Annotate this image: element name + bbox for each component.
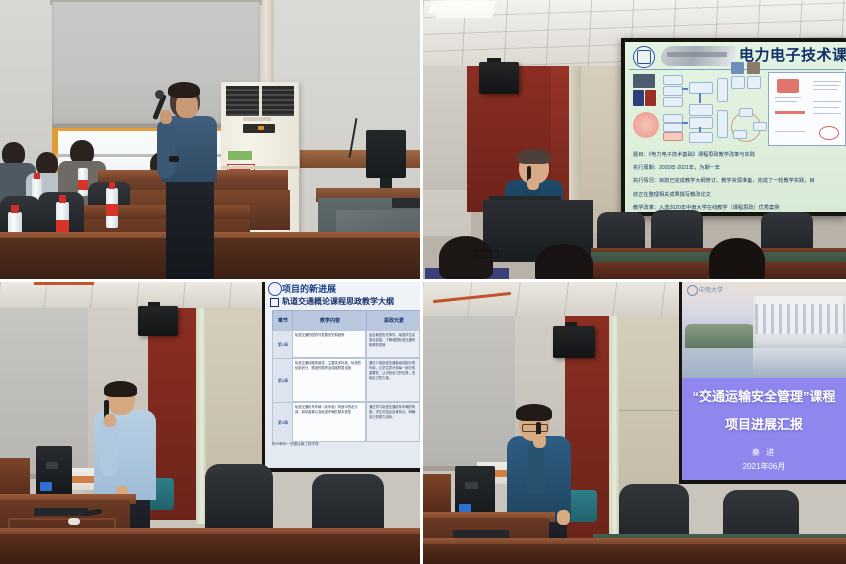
slide-date: 2021年06月 (682, 460, 846, 474)
keyboard (34, 508, 88, 516)
keyboard (453, 530, 509, 538)
air-conditioner-seam (221, 166, 299, 169)
flow-arrow (682, 88, 688, 90)
table-cell: 轨道交通线路的组成、主要技术标准、轨道的轨距划分、隧道的限界及线路附属设施 (292, 358, 366, 402)
certificate-line (775, 97, 801, 98)
water-bottle-cap (11, 205, 19, 213)
table-cell: 轨道交通的国内外发展历史和趋势 (292, 330, 366, 358)
roller-blind (423, 306, 515, 466)
photo-collage: 电力电子技术课程思政 (0, 0, 846, 564)
flow-node (663, 75, 683, 85)
table-cell: 通过学习轨道交通机车车辆的构造，学生可结合自身特点，明确自己的努力目标。 (366, 402, 420, 442)
certificate-line (813, 81, 841, 82)
slide-footer: 执行单位：交通运输工程学院 (272, 442, 402, 450)
slide-body-text: 题目：《电力电子技术基础》课程思政教学改革与实践 执行周期：2020年-2021… (629, 148, 844, 210)
monitor-stand (380, 178, 392, 188)
slide-subheading: 轨道交通概论课程思政教学大纲 (270, 296, 420, 308)
monitor-logo (46, 462, 58, 469)
keyboard (392, 198, 420, 208)
certificate-line (813, 85, 839, 86)
certificate-line (813, 107, 839, 108)
flow-arrow (699, 93, 701, 103)
water-bottle-cap (59, 195, 66, 203)
slide-table: 章节 教学内容 思政元素 第1章 轨道交通的国内外发展历史和趋势 结合典型历史事… (272, 310, 420, 440)
wall-panel-seam (619, 410, 681, 411)
slide-presenter-name: 秦 进 (682, 446, 846, 460)
slide-body-line: 教学改革：入选2020年中南大学在线教学（课程思政）优秀案例 (633, 203, 840, 210)
front-desk-front (0, 534, 420, 564)
slide-body-line: 执行情况：目前已完成教学大纲修订、教学资源准备，完成了一轮教学实践，目 (633, 176, 840, 187)
wristwatch (169, 156, 179, 162)
flow-node (731, 76, 745, 89)
flow-node (689, 104, 713, 116)
office-chair (205, 464, 273, 536)
table-row-label: 第3章 (272, 402, 294, 444)
flow-node (717, 78, 728, 102)
certificate-icon (777, 79, 799, 93)
certificate-line (813, 89, 837, 90)
table-header-cell: 章节 (272, 310, 294, 332)
flow-node (689, 132, 713, 143)
microphone-head-icon (155, 90, 164, 99)
speaker-hair (104, 381, 137, 397)
presenter-hair (517, 149, 551, 164)
presenter-hand (557, 510, 570, 525)
presenter-hand (533, 434, 546, 448)
water-bottle-cap (109, 182, 115, 189)
air-conditioner-vent-divider (259, 86, 262, 116)
certificate-line (813, 101, 841, 102)
monitor-logo (465, 482, 478, 489)
university-seal-inner-icon (637, 50, 651, 64)
train-body-stripe (667, 52, 727, 57)
blue-adapter (40, 482, 52, 491)
eyeglasses-icon (475, 250, 499, 258)
flow-node (739, 108, 753, 117)
photo-panel-top-left (0, 0, 420, 279)
slide-title-line-1: “交通运输安全管理”课程 (682, 386, 846, 408)
flow-node (663, 97, 683, 107)
flow-node (663, 86, 683, 96)
flow-node (753, 122, 767, 131)
diagram-thumbnail (633, 74, 655, 88)
presenter-hand (527, 178, 539, 190)
ceiling-accent-strip (34, 282, 94, 285)
flow-node-accent (663, 132, 683, 141)
slide-heading: 项目的新进展 (268, 282, 420, 296)
water-bottle-label (106, 204, 118, 216)
flow-node (717, 110, 728, 138)
flow-node (689, 117, 713, 129)
speaker-arm (157, 120, 175, 178)
audience-head (535, 244, 593, 279)
diagram-circle (633, 112, 659, 138)
diagram-thumbnail (633, 90, 644, 106)
photo-panel-bottom-left: 项目的新进展 轨道交通概论课程思政教学大纲 章节 教学内容 思政元素 第1章 轨… (0, 282, 420, 564)
speaker-hand (160, 110, 172, 124)
flow-node (733, 130, 747, 139)
campus-trees (685, 324, 757, 350)
wall-speaker (479, 62, 519, 94)
flow-arrow (682, 122, 688, 124)
mouse (68, 518, 80, 525)
desktop-monitor (366, 130, 406, 178)
speaker-hand (104, 414, 116, 427)
campus-building-windows (755, 304, 845, 334)
table-row-label: 第1章 (272, 330, 294, 360)
certificate-line (775, 101, 797, 102)
diagram-thumbnail (645, 90, 656, 106)
fluorescent-light (435, 10, 495, 18)
certificate-line (775, 131, 805, 132)
slide-body-line: 题目：《电力电子技术基础》课程思政教学改革与实践 (633, 150, 840, 161)
eyeglasses-icon (522, 424, 548, 432)
wall-speaker (138, 306, 178, 336)
flow-node (689, 82, 713, 94)
slide-flow-diagram (631, 72, 761, 144)
front-desk-front (423, 544, 846, 564)
slide-body-line: 执行周期：2020年-2021年，为期一年 (633, 163, 840, 174)
speaker-hair (168, 82, 200, 98)
flow-node (663, 123, 683, 132)
photo-panel-bottom-right: 中南大学 “交通运输安全管理”课程 项目进展汇报 秦 进 2021年06月 (423, 282, 846, 564)
certificate-stamp-icon (819, 126, 839, 140)
flow-node (747, 76, 761, 89)
table-header-cell: 教学内容 (292, 310, 368, 332)
certificate-highlight (775, 111, 805, 114)
building-reflection (753, 348, 846, 378)
presenter-arm (527, 442, 545, 494)
lectern (423, 474, 451, 516)
university-name: 中南大学 (687, 285, 733, 296)
water-bottle-label (78, 180, 88, 190)
slide-body-line: 前正在整理相关成果撰写教改论文 (633, 190, 840, 201)
flow-node (663, 114, 683, 123)
table-cell: 结合典型历史事件，增强学生民族自豪感，了解我国轨道交通所取得的成就 (366, 330, 420, 358)
air-conditioner-led (258, 126, 264, 130)
water-bottle-cap (34, 173, 40, 179)
air-conditioner-sticker-green (228, 151, 252, 160)
wall-speaker (553, 326, 595, 358)
diagram-thumbnail (731, 62, 744, 74)
air-conditioner-brand (243, 117, 271, 121)
certificate-line (813, 113, 841, 114)
presenter-hair (516, 404, 552, 421)
table-cell: 轨道交通机车车辆（动车组）构造中的走行部、制动装置以及轨道车辆的基本类型 (292, 402, 366, 442)
diagram-thumbnail (747, 62, 760, 74)
flow-arrow (699, 127, 701, 132)
slide-title-line-2: 项目进展汇报 (682, 414, 846, 436)
speaker-legs (166, 180, 214, 279)
table-row-label: 第2章 (272, 358, 294, 404)
table-cell: 通过介绍轨道交通各组成部分的作用，让学生意识到每一部分的重要性，认识到自己的优势… (366, 358, 420, 402)
table-header-cell: 思政元素 (366, 310, 420, 332)
photo-panel-top-right: 电力电子技术课程思政 (423, 0, 846, 279)
audience-head (709, 238, 765, 279)
